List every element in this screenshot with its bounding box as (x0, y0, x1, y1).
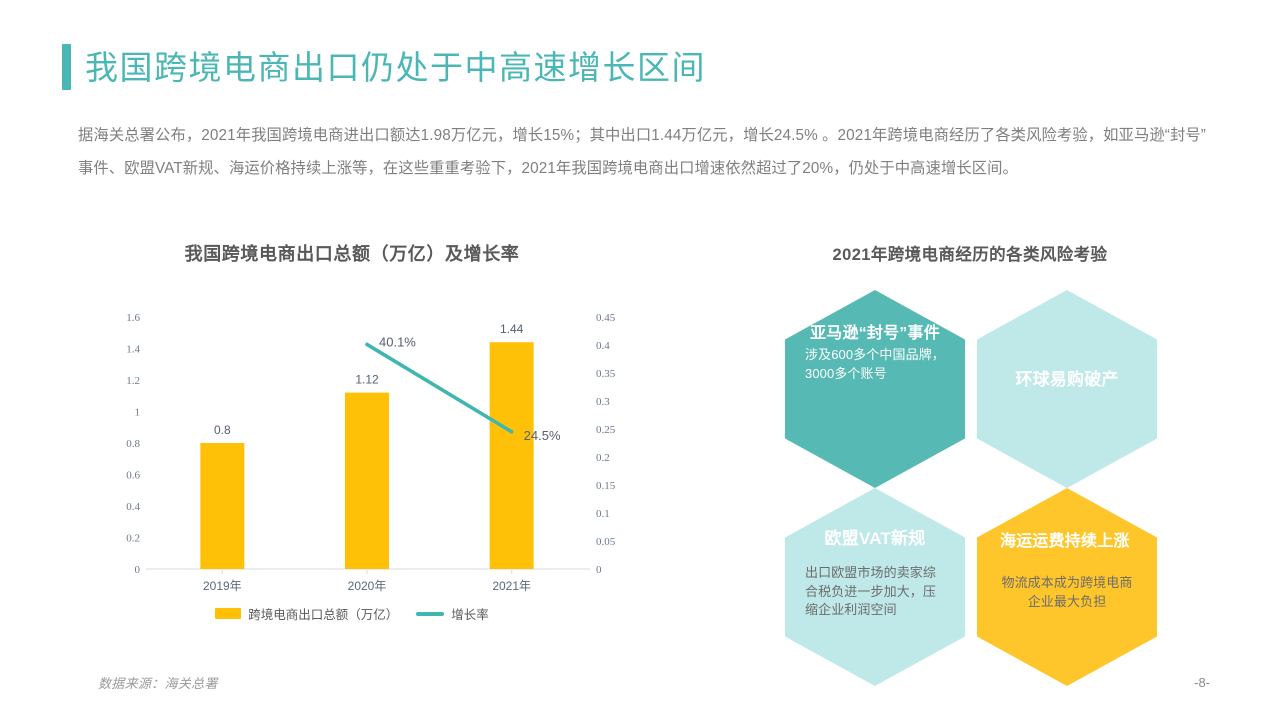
hexagon-title: 亚马逊“封号”事件 (805, 324, 945, 344)
bar (345, 393, 389, 569)
bar-value-label: 1.44 (500, 322, 524, 336)
y-axis-tick-label: 1 (135, 407, 141, 419)
y-axis-tick-label: 0.8 (126, 438, 140, 450)
hexagon-title: 环球易购破产 (997, 369, 1137, 391)
y2-axis-tick-label: 0.45 (596, 312, 616, 324)
hexagon-title: 欧盟VAT新规 (805, 528, 945, 550)
bar (200, 443, 244, 569)
title-text: 我国跨境电商出口仍处于中高速增长区间 (85, 51, 706, 84)
legend-item-bar: 跨境电商出口总额（万亿） (215, 604, 398, 623)
body-paragraph: 据海关总署公布，2021年我国跨境电商进出口额达1.98万亿元，增长15%；其中… (78, 119, 1206, 185)
y-axis-tick-label: 1.4 (126, 344, 140, 356)
hexagon-body: 涉及600多个中国品牌，3000多个账号 (805, 346, 945, 384)
y-axis-tick-label: 0.2 (126, 533, 140, 545)
y2-axis-tick-label: 0.3 (596, 396, 610, 408)
y2-axis-tick-label: 0 (596, 564, 602, 576)
page-title: 我国跨境电商出口仍处于中高速增长区间 (62, 44, 706, 90)
y2-axis-tick-label: 0.35 (596, 368, 616, 380)
page-number: -8- (1194, 675, 1210, 690)
hexagon-title: 海运运费持续上涨 (994, 532, 1140, 552)
y-axis-tick-label: 0 (135, 564, 141, 576)
line-value-label: 40.1% (379, 334, 416, 349)
y2-axis-tick-label: 0.4 (596, 340, 610, 352)
bar (490, 342, 534, 569)
data-source-note: 数据来源：海关总署 (98, 673, 218, 692)
legend-bar-label: 跨境电商出口总额（万亿） (248, 604, 398, 623)
slide-root: 我国跨境电商出口仍处于中高速增长区间 据海关总署公布，2021年我国跨境电商进出… (0, 0, 1280, 720)
y-axis-tick-label: 0.6 (126, 470, 140, 482)
y-axis-tick-label: 1.6 (126, 312, 140, 324)
combo-chart: 00.20.40.60.811.21.41.600.050.10.150.20.… (92, 295, 632, 595)
y2-axis-tick-label: 0.2 (596, 452, 610, 464)
y-axis-tick-label: 0.4 (126, 501, 140, 513)
line-value-label: 24.5% (524, 428, 561, 443)
legend-bar-swatch-icon (215, 608, 241, 619)
chart-svg: 00.20.40.60.811.21.41.600.050.10.150.20.… (92, 295, 632, 595)
bar-value-label: 0.8 (214, 423, 231, 437)
x-axis-category-label: 2019年 (203, 579, 242, 593)
title-accent-bar (62, 44, 71, 90)
hexagon-eu-vat-rules[interactable]: 欧盟VAT新规 出口欧盟市场的卖家综合税负进一步加大，压缩企业利润空间 (785, 488, 965, 686)
y2-axis-tick-label: 0.25 (596, 424, 616, 436)
legend-line-label: 增长率 (451, 604, 489, 623)
hexagon-body: 出口欧盟市场的卖家综合税负进一步加大，压缩企业利润空间 (805, 564, 945, 621)
chart-legend: 跨境电商出口总额（万亿） 增长率 (92, 604, 612, 623)
y2-axis-tick-label: 0.05 (596, 536, 616, 548)
hexagon-shipping-cost-rise[interactable]: 海运运费持续上涨 物流成本成为跨境电商企业最大负担 (977, 488, 1157, 686)
y-axis-tick-label: 1.2 (126, 375, 140, 387)
x-axis-category-label: 2021年 (492, 579, 531, 593)
hexagon-body: 物流成本成为跨境电商企业最大负担 (997, 574, 1137, 612)
hexagon-heading: 2021年跨境电商经历的各类风险考验 (760, 241, 1180, 265)
hexagon-group: 亚马逊“封号”事件 涉及600多个中国品牌，3000多个账号 环球易购破产 欧盟… (755, 282, 1185, 682)
chart-heading: 我国跨境电商出口总额（万亿）及增长率 (92, 240, 612, 266)
hexagon-global-easybuy-bankruptcy[interactable]: 环球易购破产 (977, 290, 1157, 488)
y2-axis-tick-label: 0.1 (596, 508, 610, 520)
bar-value-label: 1.12 (355, 373, 379, 387)
x-axis-category-label: 2020年 (348, 579, 387, 593)
legend-line-swatch-icon (416, 612, 444, 616)
y2-axis-tick-label: 0.15 (596, 480, 616, 492)
legend-item-line: 增长率 (416, 604, 489, 623)
hexagon-amazon-ban[interactable]: 亚马逊“封号”事件 涉及600多个中国品牌，3000多个账号 (785, 290, 965, 488)
